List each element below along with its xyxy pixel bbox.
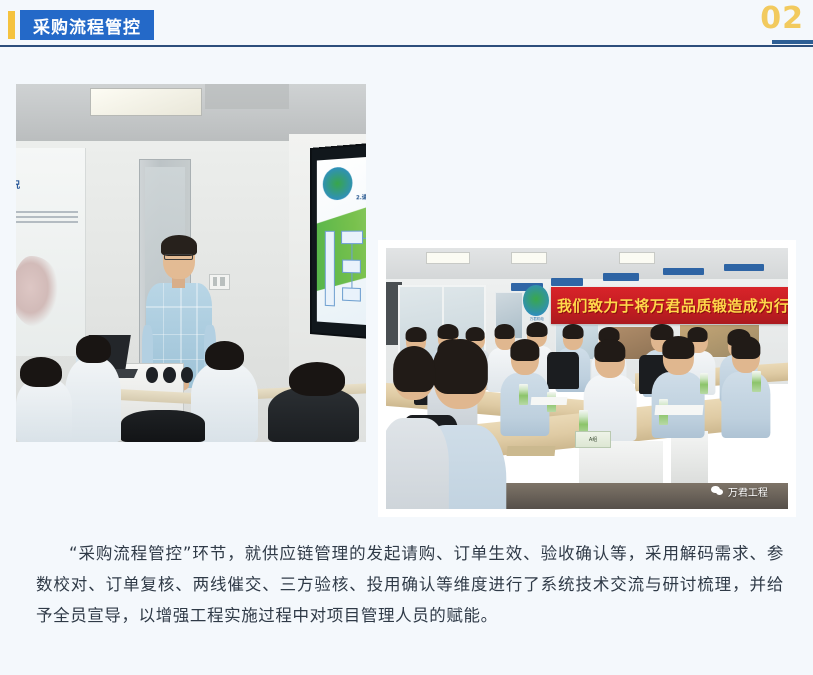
wall-poster: 况: [16, 148, 86, 356]
red-banner-text: 我们致力于将万君品质锻造成为行: [551, 295, 788, 316]
attendee-hair: [393, 346, 435, 392]
flow-node: [341, 231, 363, 244]
attendee-head: [20, 357, 62, 387]
table-leg: [671, 431, 707, 483]
wall-sign: [603, 273, 639, 281]
presenter-photo: 况 2.请购流程图: [16, 84, 366, 442]
ceiling-light: [619, 252, 655, 264]
page-header: 采购流程管控 02: [0, 0, 813, 54]
foreground-audience: [16, 327, 366, 442]
body-paragraph: “采购流程管控”环节，就供应链管理的发起请购、订单生效、验收确认等，采用解码需求…: [36, 538, 784, 631]
flow-lane: [325, 232, 336, 307]
attendee-hair: [526, 322, 547, 337]
attendee: [663, 339, 693, 394]
notepaper: [530, 397, 567, 405]
wechat-watermark: 万君工程: [711, 484, 768, 499]
attendee-head: [205, 341, 244, 370]
wechat-icon: [711, 486, 724, 497]
attendee-body: [65, 357, 121, 442]
water-bottle: [519, 384, 528, 405]
section-number-underline: [772, 40, 813, 44]
attendee-hair: [731, 336, 760, 359]
attendee-foreground: [394, 352, 434, 462]
attendee-hair: [594, 339, 625, 362]
attendee-hair: [406, 327, 427, 342]
ceiling-light: [511, 252, 547, 264]
table-tent-card: A组: [575, 431, 611, 448]
page-title: 采购流程管控: [33, 13, 141, 38]
water-bottle: [700, 373, 709, 394]
attendee-hair: [663, 336, 694, 359]
presenter-glasses: [164, 254, 193, 260]
ceiling-light: [90, 88, 202, 117]
attendee-hair: [433, 339, 487, 394]
attendee-body: [386, 418, 449, 509]
slide-logo-icon: [323, 167, 352, 201]
ceiling-tile: [205, 84, 289, 109]
attendee-body: [16, 378, 72, 442]
wall-sign: [724, 264, 764, 272]
notepaper: [655, 405, 704, 415]
ceiling-light: [426, 252, 470, 264]
slide-heading: 2.请购流程图: [356, 193, 366, 202]
table-tent-card-label: A组: [589, 436, 597, 443]
flow-node: [342, 260, 361, 274]
attendee-hair: [562, 324, 583, 339]
attendee-hair: [466, 327, 485, 341]
wall-sign: [551, 278, 583, 286]
wall-poster-lines: [16, 211, 78, 226]
office-chair: [547, 352, 579, 389]
audience-photo: 万君机电 我们致力于将万君品质锻造成为行: [378, 240, 796, 517]
header-title-block: 采购流程管控: [20, 10, 154, 40]
slide-content: 2.请购流程图: [317, 154, 366, 330]
flow-connector: [351, 273, 352, 288]
wall-sign: [663, 268, 703, 276]
projection-screen: 2.请购流程图: [310, 139, 366, 344]
attendee-hair: [510, 339, 539, 361]
header-accent-bar: [8, 11, 15, 39]
notebook: [506, 446, 555, 456]
photo-stage: 况 2.请购流程图: [0, 54, 813, 519]
section-number: 02: [760, 4, 804, 34]
wall-poster-map: [16, 256, 58, 327]
wechat-watermark-label: 万君工程: [728, 484, 768, 499]
presenter-hair: [161, 235, 197, 256]
attendee-hair: [438, 324, 459, 339]
attendee-hair: [494, 324, 515, 339]
water-bottle: [752, 371, 761, 392]
attendee: [595, 342, 625, 397]
attendee-body: [721, 372, 770, 438]
header-divider-rule: [0, 45, 813, 47]
attendee-head: [289, 362, 345, 396]
flow-connector: [351, 245, 352, 260]
flow-node: [342, 288, 361, 302]
red-banner: 我们致力于将万君品质锻造成为行: [551, 287, 788, 324]
wall-poster-title: 况: [16, 178, 20, 191]
attendee-body: [121, 410, 205, 442]
attendee-head: [76, 335, 111, 362]
company-logo-icon: [523, 285, 549, 316]
